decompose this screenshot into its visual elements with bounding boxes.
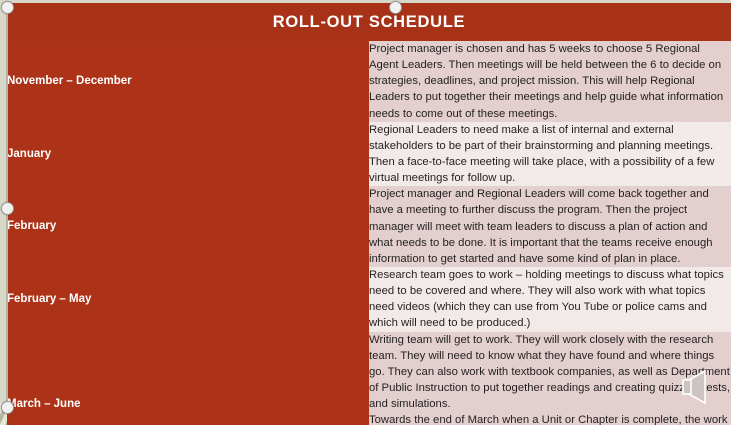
period-label-0: November – December <box>7 41 369 122</box>
selection-handle-middle-left[interactable] <box>1 202 14 215</box>
table-row[interactable]: February – May Research team goes to wor… <box>7 267 731 332</box>
description-line: Writing team will get to work. They will… <box>369 332 731 413</box>
selection-handle-top-center[interactable] <box>389 1 402 14</box>
schedule-table-object[interactable]: ROLL-OUT SCHEDULE November – December Pr… <box>7 3 731 412</box>
description-cell-1: Regional Leaders to need make a list of … <box>369 122 731 187</box>
table-row[interactable]: January Regional Leaders to need make a … <box>7 122 731 187</box>
description-cell-4: Writing team will get to work. They will… <box>369 332 731 425</box>
period-label-4: March – June <box>7 332 369 425</box>
description-line: Towards the end of March when a Unit or … <box>369 412 731 425</box>
description-line: Research team goes to work – holding mee… <box>369 267 731 332</box>
description-line: Then a face-to-face meeting will take pl… <box>369 154 731 186</box>
description-cell-0: Project manager is chosen and has 5 week… <box>369 41 731 122</box>
table-row[interactable]: February Project manager and Regional Le… <box>7 186 731 267</box>
table-header-row: ROLL-OUT SCHEDULE <box>7 3 731 41</box>
table-row[interactable]: March – June Writing team will get to wo… <box>7 332 731 425</box>
table-title: ROLL-OUT SCHEDULE <box>7 3 731 41</box>
table-row[interactable]: November – December Project manager is c… <box>7 41 731 122</box>
slide-canvas: ROLL-OUT SCHEDULE November – December Pr… <box>0 0 731 425</box>
description-line: Project manager and Regional Leaders wil… <box>369 186 731 267</box>
description-cell-3: Research team goes to work – holding mee… <box>369 267 731 332</box>
period-label-2: February <box>7 186 369 267</box>
description-line: Project manager is chosen and has 5 week… <box>369 41 731 122</box>
period-label-1: January <box>7 122 369 187</box>
period-label-3: February – May <box>7 267 369 332</box>
selection-handle-bottom-left[interactable] <box>1 401 14 414</box>
description-cell-2: Project manager and Regional Leaders wil… <box>369 186 731 267</box>
description-line: Regional Leaders to need make a list of … <box>369 122 731 154</box>
schedule-table[interactable]: ROLL-OUT SCHEDULE November – December Pr… <box>7 3 731 425</box>
selection-handle-top-left[interactable] <box>1 1 14 14</box>
